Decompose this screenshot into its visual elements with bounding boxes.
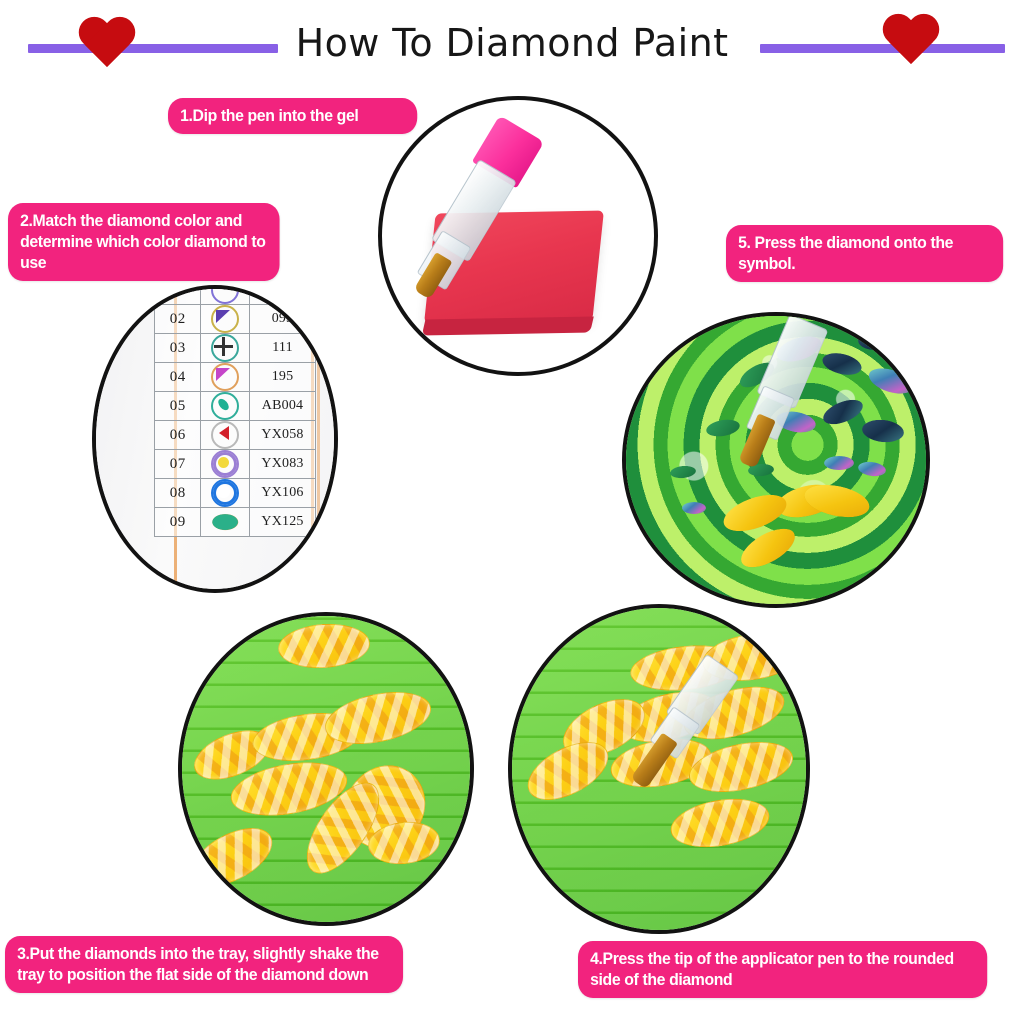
chart-stripe (317, 289, 320, 589)
symbol-row-glyph (201, 479, 250, 508)
photo-circle-step-2: 02802093031110419505AB00406YX05807YX0830… (92, 285, 338, 593)
symbol-row-number (155, 285, 201, 305)
symbol-row-glyph (201, 421, 250, 450)
symbol-row-glyph (201, 285, 250, 305)
capsule-oval-icon (211, 392, 239, 420)
photo-press-onto-symbol (626, 316, 926, 604)
symbol-row-number: 06 (155, 421, 201, 450)
photo-circle-step-4 (508, 604, 810, 934)
symbol-row-glyph (201, 392, 250, 421)
symbol-chart-row: 02093 (155, 305, 316, 334)
photo-symbol-chart: 02802093031110419505AB00406YX05807YX0830… (96, 289, 334, 589)
plus-cross-icon (211, 334, 239, 362)
symbol-row-number: 03 (155, 334, 201, 363)
symbol-row-code: 093 (250, 305, 316, 334)
photo-circle-step-3 (178, 612, 474, 926)
symbol-row-number: 02 (155, 305, 201, 334)
photo-pen-presses-diamond (512, 608, 806, 930)
symbol-row-number: 07 (155, 450, 201, 479)
symbol-chart-row: 03111 (155, 334, 316, 363)
symbol-chart-row: 028 (155, 285, 316, 305)
open-ring-icon (211, 479, 239, 507)
symbol-row-code: YX106 (250, 479, 316, 508)
step-label-3: 3.Put the diamonds into the tray, slight… (5, 936, 403, 993)
double-dot-circle-icon (211, 285, 239, 304)
symbol-row-glyph (201, 334, 250, 363)
left-chevron-icon (211, 421, 239, 449)
symbol-chart-row: 04195 (155, 363, 316, 392)
symbol-row-glyph (201, 363, 250, 392)
photo-circle-step-5 (622, 312, 930, 608)
symbol-row-number: 08 (155, 479, 201, 508)
symbol-row-number: 05 (155, 392, 201, 421)
symbol-row-glyph (201, 305, 250, 334)
step-label-1: 1.Dip the pen into the gel (168, 98, 417, 134)
symbol-row-glyph (201, 450, 250, 479)
filled-triangle-icon (211, 305, 239, 333)
symbol-row-code: YX058 (250, 421, 316, 450)
symbol-row-code: YX125 (250, 508, 316, 537)
leaf-marquise-icon (212, 514, 238, 530)
infographic-canvas: How To Diamond Paint 1.Dip the pen into … (0, 0, 1024, 1024)
pen-tip-icon (738, 413, 776, 468)
symbol-row-number: 04 (155, 363, 201, 392)
symbol-row-code: 111 (250, 334, 316, 363)
photo-diamonds-in-tray (182, 616, 470, 922)
symbol-row-code: YX083 (250, 450, 316, 479)
step-label-4: 4.Press the tip of the applicator pen to… (578, 941, 987, 998)
symbol-chart-row: 05AB004 (155, 392, 316, 421)
symbol-chart-row: 07YX083 (155, 450, 316, 479)
step-label-5: 5. Press the diamond onto the symbol. (726, 225, 1003, 282)
canvas-gem (824, 456, 854, 470)
symbol-row-code: AB004 (250, 392, 316, 421)
filled-triangle-icon (211, 363, 239, 391)
canvas-gem (682, 502, 706, 514)
symbol-legend-table: 02802093031110419505AB00406YX05807YX0830… (154, 285, 316, 537)
step-label-2: 2.Match the diamond color and determine … (8, 203, 280, 281)
page-title: How To Diamond Paint (0, 20, 1024, 66)
dot-in-ring-icon (211, 450, 239, 478)
symbol-chart-row: 06YX058 (155, 421, 316, 450)
photo-pen-in-gel (382, 100, 654, 372)
photo-circle-step-1 (378, 96, 658, 376)
symbol-chart-row: 09YX125 (155, 508, 316, 537)
symbol-row-number: 09 (155, 508, 201, 537)
symbol-row-code: 195 (250, 363, 316, 392)
symbol-row-code: 028 (250, 285, 316, 305)
symbol-chart-row: 08YX106 (155, 479, 316, 508)
symbol-row-glyph (201, 508, 250, 537)
